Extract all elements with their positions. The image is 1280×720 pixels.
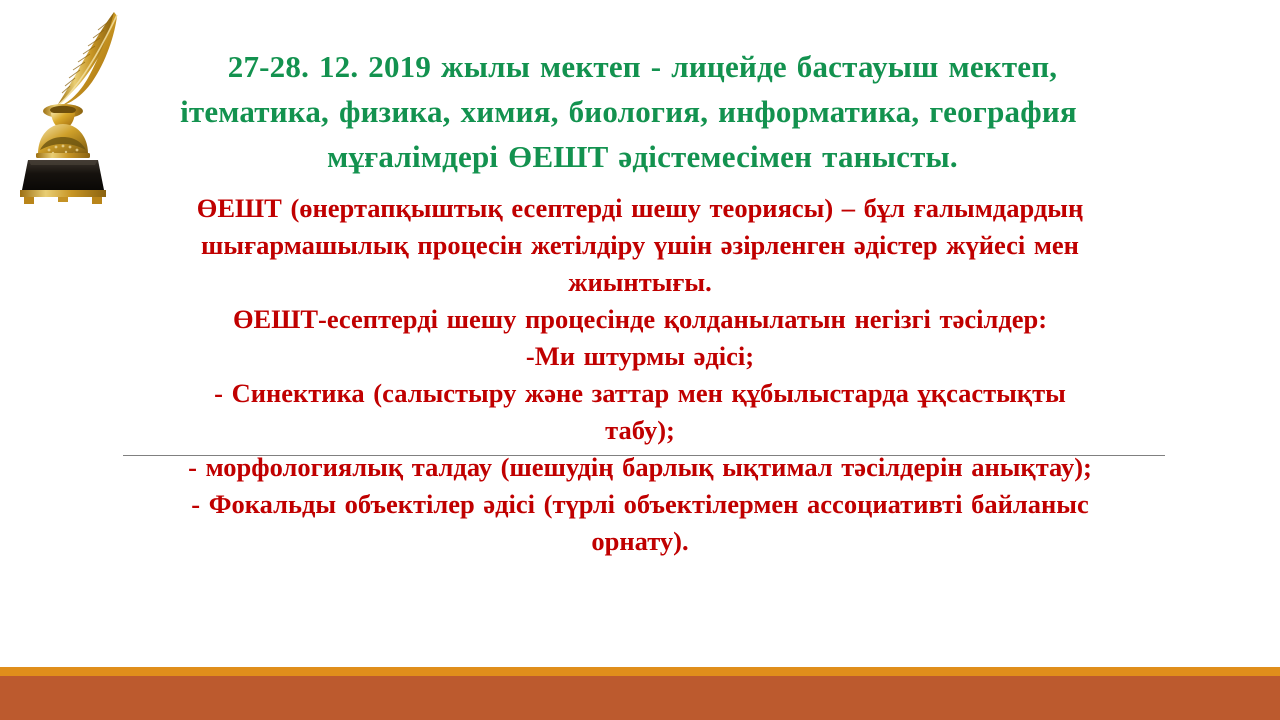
body-line-7: табу); (40, 412, 1240, 449)
body-line-1: ӨЕШТ (өнертапқыштық есептерді шешу теори… (40, 190, 1240, 227)
body-line-9: - Фокальды объектілер әдісі (түрлі объек… (40, 486, 1240, 523)
slide-body: ӨЕШТ (өнертапқыштық есептерді шешу теори… (40, 190, 1240, 560)
body-line-6: - Синектика (салыстыру және заттар мен қ… (40, 375, 1240, 412)
body-line-10: орнату). (40, 523, 1240, 560)
slide-text-content: 27-28. 12. 2019 жылы мектеп - лицейде ба… (0, 0, 1280, 640)
footer-banner (0, 676, 1280, 720)
body-line-5: -Ми штурмы әдісі; (40, 338, 1240, 375)
title-line-3: мұғалімдері ӨЕШТ әдістемесімен танысты. (110, 134, 1175, 179)
body-line-4: ӨЕШТ-есептерді шешу процесінде қолданыла… (40, 301, 1240, 338)
body-line-3: жиынтығы. (40, 264, 1240, 301)
title-line-2: ітематика, физика, химия, биология, инфо… (96, 89, 1161, 134)
slide-canvas: 27-28. 12. 2019 жылы мектеп - лицейде ба… (0, 0, 1280, 720)
horizontal-divider (123, 455, 1165, 456)
slide-title: 27-28. 12. 2019 жылы мектеп - лицейде ба… (110, 44, 1175, 179)
footer-accent-stripe (0, 667, 1280, 676)
body-line-2: шығармашылық процесін жетілдіру үшін әзі… (40, 227, 1240, 264)
title-line-1: 27-28. 12. 2019 жылы мектеп - лицейде ба… (110, 44, 1175, 89)
